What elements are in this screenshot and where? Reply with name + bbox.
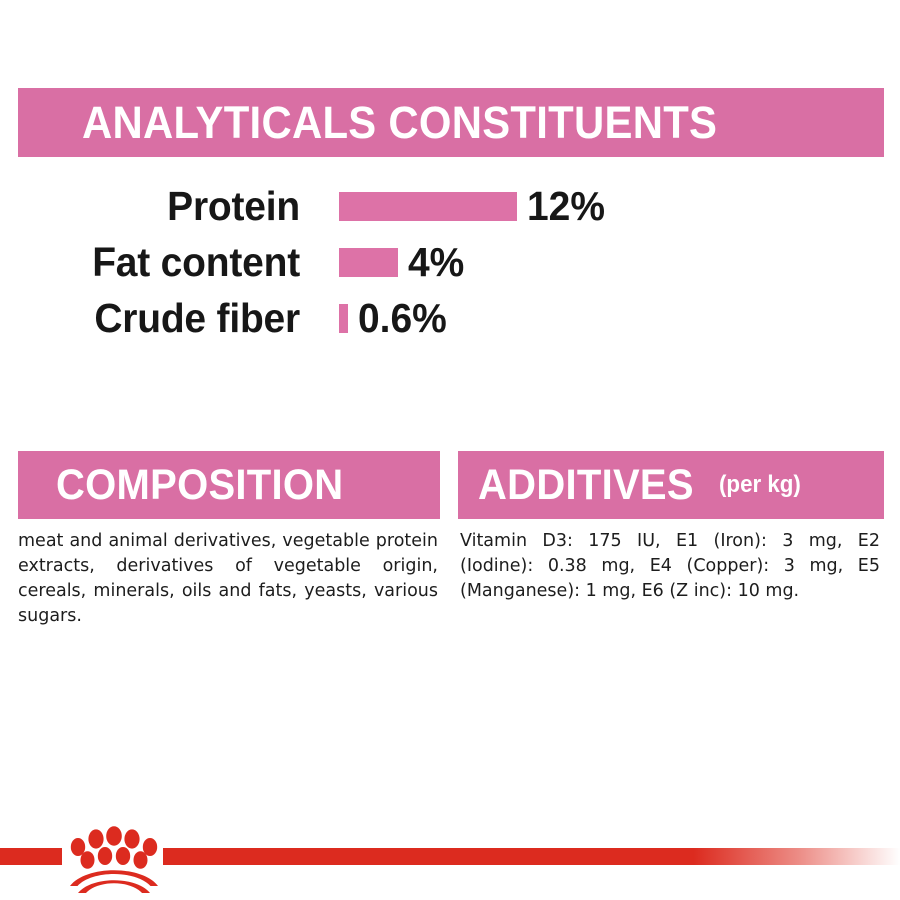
additives-subtitle: (per kg) (719, 473, 801, 497)
constituent-bar-group: 4% (339, 242, 467, 283)
constituent-bar (339, 304, 348, 333)
constituent-label: Protein (15, 186, 300, 227)
constituent-value: 12% (527, 186, 605, 227)
constituent-bar-group: 0.6% (339, 298, 451, 339)
additives-header: ADDITIVES (per kg) (458, 451, 884, 519)
composition-body-text: meat and animal derivatives, vegetable p… (18, 529, 438, 629)
nutrition-label-panel: ANALYTICALS CONSTITUENTS Protein 12% Fat… (0, 0, 900, 900)
constituent-label: Fat content (15, 242, 300, 283)
constituent-bar-group: 12% (339, 186, 609, 227)
analyticals-constituents-header: ANALYTICALS CONSTITUENTS (18, 88, 884, 157)
analyticals-constituents-chart: Protein 12% Fat content 4% Crude fiber 0… (0, 178, 900, 346)
constituent-bar (339, 248, 398, 277)
brand-rule-right (163, 848, 900, 865)
brand-footer (0, 836, 900, 900)
constituent-row-protein: Protein 12% (0, 178, 900, 234)
royal-canin-crown-icon (62, 815, 166, 893)
constituent-row-fat-content: Fat content 4% (0, 234, 900, 290)
constituent-bar (339, 192, 517, 221)
analyticals-constituents-title: ANALYTICALS CONSTITUENTS (82, 100, 717, 145)
additives-body-text: Vitamin D3: 175 IU, E1 (Iron): 3 mg, E2 … (460, 529, 880, 604)
constituent-value: 4% (408, 242, 464, 283)
brand-rule-left (0, 848, 62, 865)
additives-title: ADDITIVES (478, 464, 694, 507)
composition-header: COMPOSITION (18, 451, 440, 519)
constituent-value: 0.6% (358, 298, 447, 339)
composition-title: COMPOSITION (56, 464, 343, 507)
constituent-label: Crude fiber (15, 298, 300, 339)
constituent-row-crude-fiber: Crude fiber 0.6% (0, 290, 900, 346)
